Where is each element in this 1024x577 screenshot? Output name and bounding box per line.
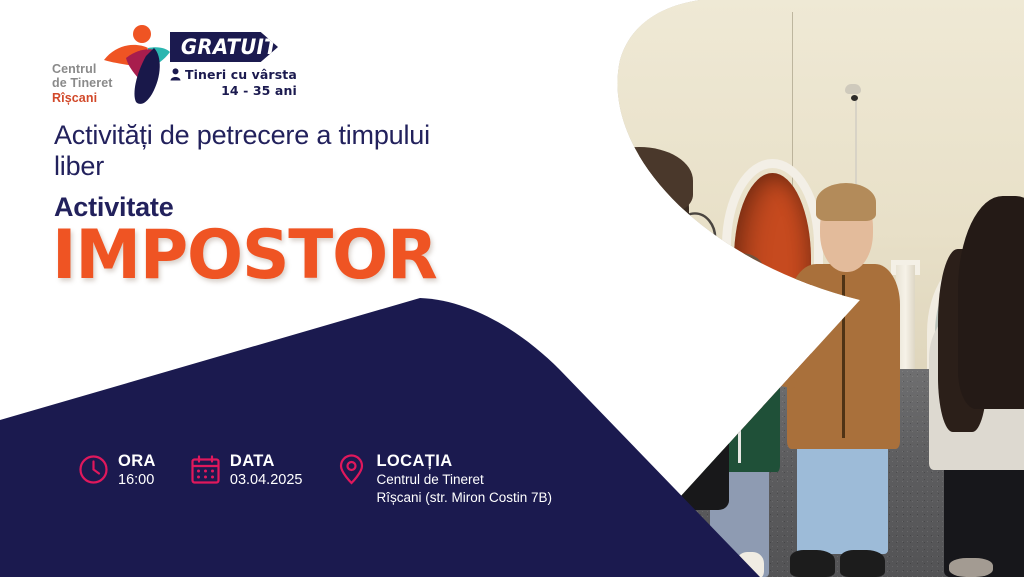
info-item-time: ORA 16:00 bbox=[78, 452, 156, 489]
page-title: IMPOSTOR bbox=[52, 222, 437, 290]
event-details-bar: ORA 16:00 DATA 03.04.2025 bbox=[78, 452, 552, 507]
kicker-text: Activități de petrecere a timpului liber bbox=[54, 120, 484, 183]
logo-line-2: de Tineret bbox=[52, 76, 113, 90]
calendar-icon bbox=[190, 454, 221, 485]
snowflake-decoration-icon: ❄ bbox=[579, 242, 591, 256]
event-poster: ❄ bbox=[0, 0, 1024, 577]
age-line-2: 14 - 35 ani bbox=[221, 83, 297, 98]
camera-lens bbox=[851, 95, 858, 101]
info-label-time: ORA bbox=[118, 452, 156, 470]
organization-logo[interactable]: Centrul de Tineret Rîșcani bbox=[52, 24, 172, 114]
info-value-date: 03.04.2025 bbox=[230, 472, 303, 488]
info-item-location: LOCAȚIA Centrul de Tineret Rîșcani (str.… bbox=[336, 452, 552, 507]
info-value-time: 16:00 bbox=[118, 472, 154, 488]
clock-icon bbox=[78, 454, 109, 485]
free-admission-badge: GRATUIT Tineri cu vârsta 14 - 35 ani bbox=[170, 32, 300, 99]
person-brown-jacket bbox=[782, 190, 908, 577]
info-item-date: DATA 03.04.2025 bbox=[190, 452, 303, 489]
mural-heart-icon bbox=[694, 326, 709, 341]
logo-line-3: Rîșcani bbox=[52, 91, 113, 105]
person-gray-sweater bbox=[918, 196, 1024, 577]
info-value-location-line2: Rîșcani (str. Miron Costin 7B) bbox=[376, 490, 552, 505]
location-pin-icon bbox=[336, 454, 367, 485]
logo-wordmark: Centrul de Tineret Rîșcani bbox=[52, 62, 113, 105]
age-line-1: Tineri cu vârsta bbox=[185, 67, 297, 82]
gratuit-label: GRATUIT bbox=[173, 35, 278, 59]
gratuit-arrow-badge: GRATUIT bbox=[170, 32, 278, 62]
info-label-date: DATA bbox=[230, 452, 275, 470]
camera-cable bbox=[855, 98, 857, 190]
logo-line-1: Centrul bbox=[52, 62, 113, 76]
info-value-location-line1: Centrul de Tineret bbox=[376, 472, 483, 487]
age-requirement: Tineri cu vârsta 14 - 35 ani bbox=[170, 67, 300, 99]
info-label-location: LOCAȚIA bbox=[376, 452, 452, 470]
person-icon bbox=[170, 68, 181, 81]
security-camera-icon bbox=[845, 84, 861, 94]
